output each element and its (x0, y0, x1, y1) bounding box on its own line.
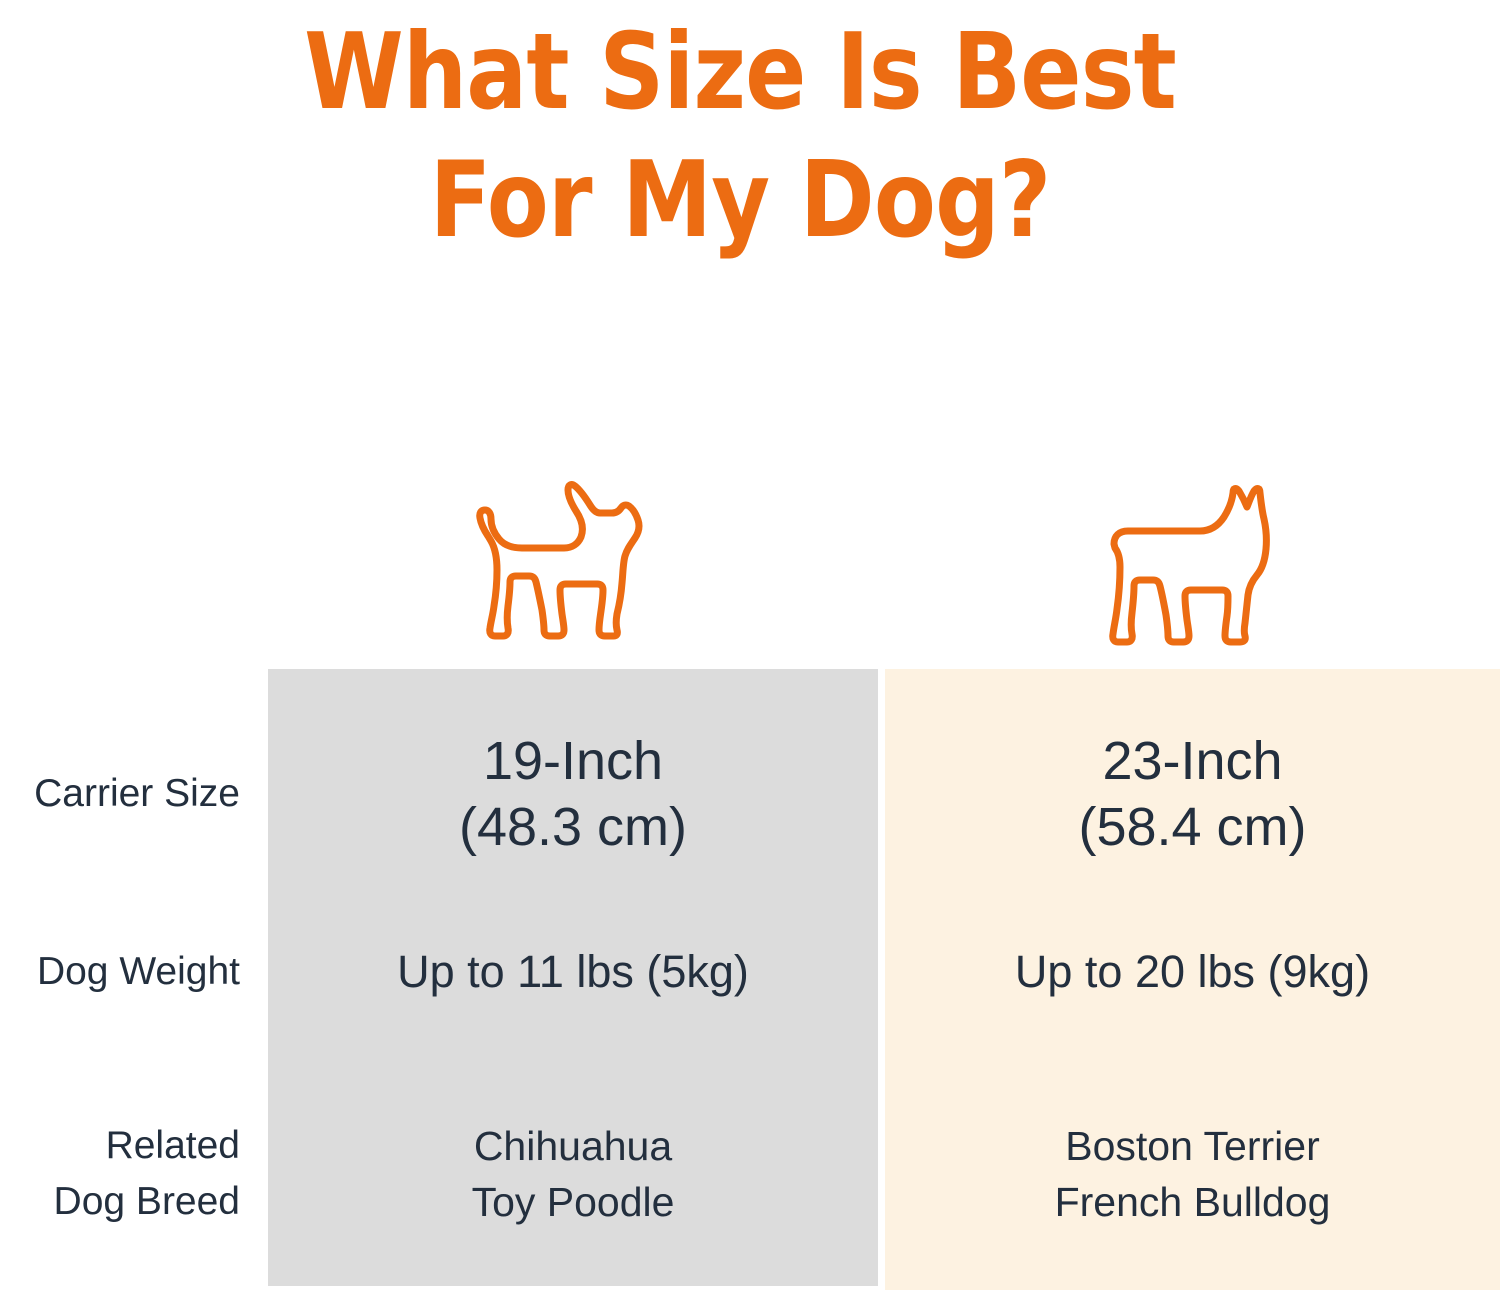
row-label-related-breed-line-1: Related (0, 1118, 240, 1174)
breed-large-line-2: French Bulldog (885, 1174, 1500, 1230)
cell-related-breed-large: Boston Terrier French Bulldog (885, 1118, 1500, 1230)
breed-small-line-1: Chihuahua (268, 1118, 878, 1174)
carrier-size-small-cm: (48.3 cm) (268, 794, 878, 860)
carrier-size-large-cm: (58.4 cm) (885, 794, 1500, 860)
carrier-size-large-inches: 23-Inch (885, 728, 1500, 794)
cell-carrier-size-large: 23-Inch (58.4 cm) (885, 728, 1500, 860)
row-label-dog-weight: Dog Weight (0, 944, 268, 1000)
comparison-table: Carrier Size 19-Inch (48.3 cm) 23-Inch (… (0, 669, 1500, 1297)
cell-dog-weight-small: Up to 11 lbs (5kg) (268, 943, 878, 1001)
cell-dog-weight-large: Up to 20 lbs (9kg) (885, 943, 1500, 1001)
breed-large-line-1: Boston Terrier (885, 1118, 1500, 1174)
row-label-related-breed-line-2: Dog Breed (0, 1174, 240, 1230)
chihuahua-dog-icon (464, 478, 664, 650)
table-row-carrier-size: Carrier Size 19-Inch (48.3 cm) 23-Inch (… (0, 709, 1500, 879)
size-comparison-infographic: What Size Is Best For My Dog? Carrier Si… (0, 0, 1500, 1297)
carrier-size-small-inches: 19-Inch (268, 728, 878, 794)
page-title: What Size Is Best For My Dog? (0, 8, 1480, 264)
row-label-related-breed: Related Dog Breed (0, 1118, 268, 1230)
table-row-dog-weight: Dog Weight Up to 11 lbs (5kg) Up to 20 l… (0, 917, 1500, 1027)
french-bulldog-icon (1092, 478, 1292, 650)
row-label-carrier-size: Carrier Size (0, 766, 268, 822)
cell-carrier-size-small: 19-Inch (48.3 cm) (268, 728, 878, 860)
page-title-line-2: For My Dog? (104, 136, 1377, 264)
table-row-related-breed: Related Dog Breed Chihuahua Toy Poodle B… (0, 1089, 1500, 1259)
dog-weight-small-value: Up to 11 lbs (5kg) (268, 943, 878, 1001)
dog-weight-large-value: Up to 20 lbs (9kg) (885, 943, 1500, 1001)
page-title-line-1: What Size Is Best (104, 8, 1377, 136)
breed-small-line-2: Toy Poodle (268, 1174, 878, 1230)
cell-related-breed-small: Chihuahua Toy Poodle (268, 1118, 878, 1230)
